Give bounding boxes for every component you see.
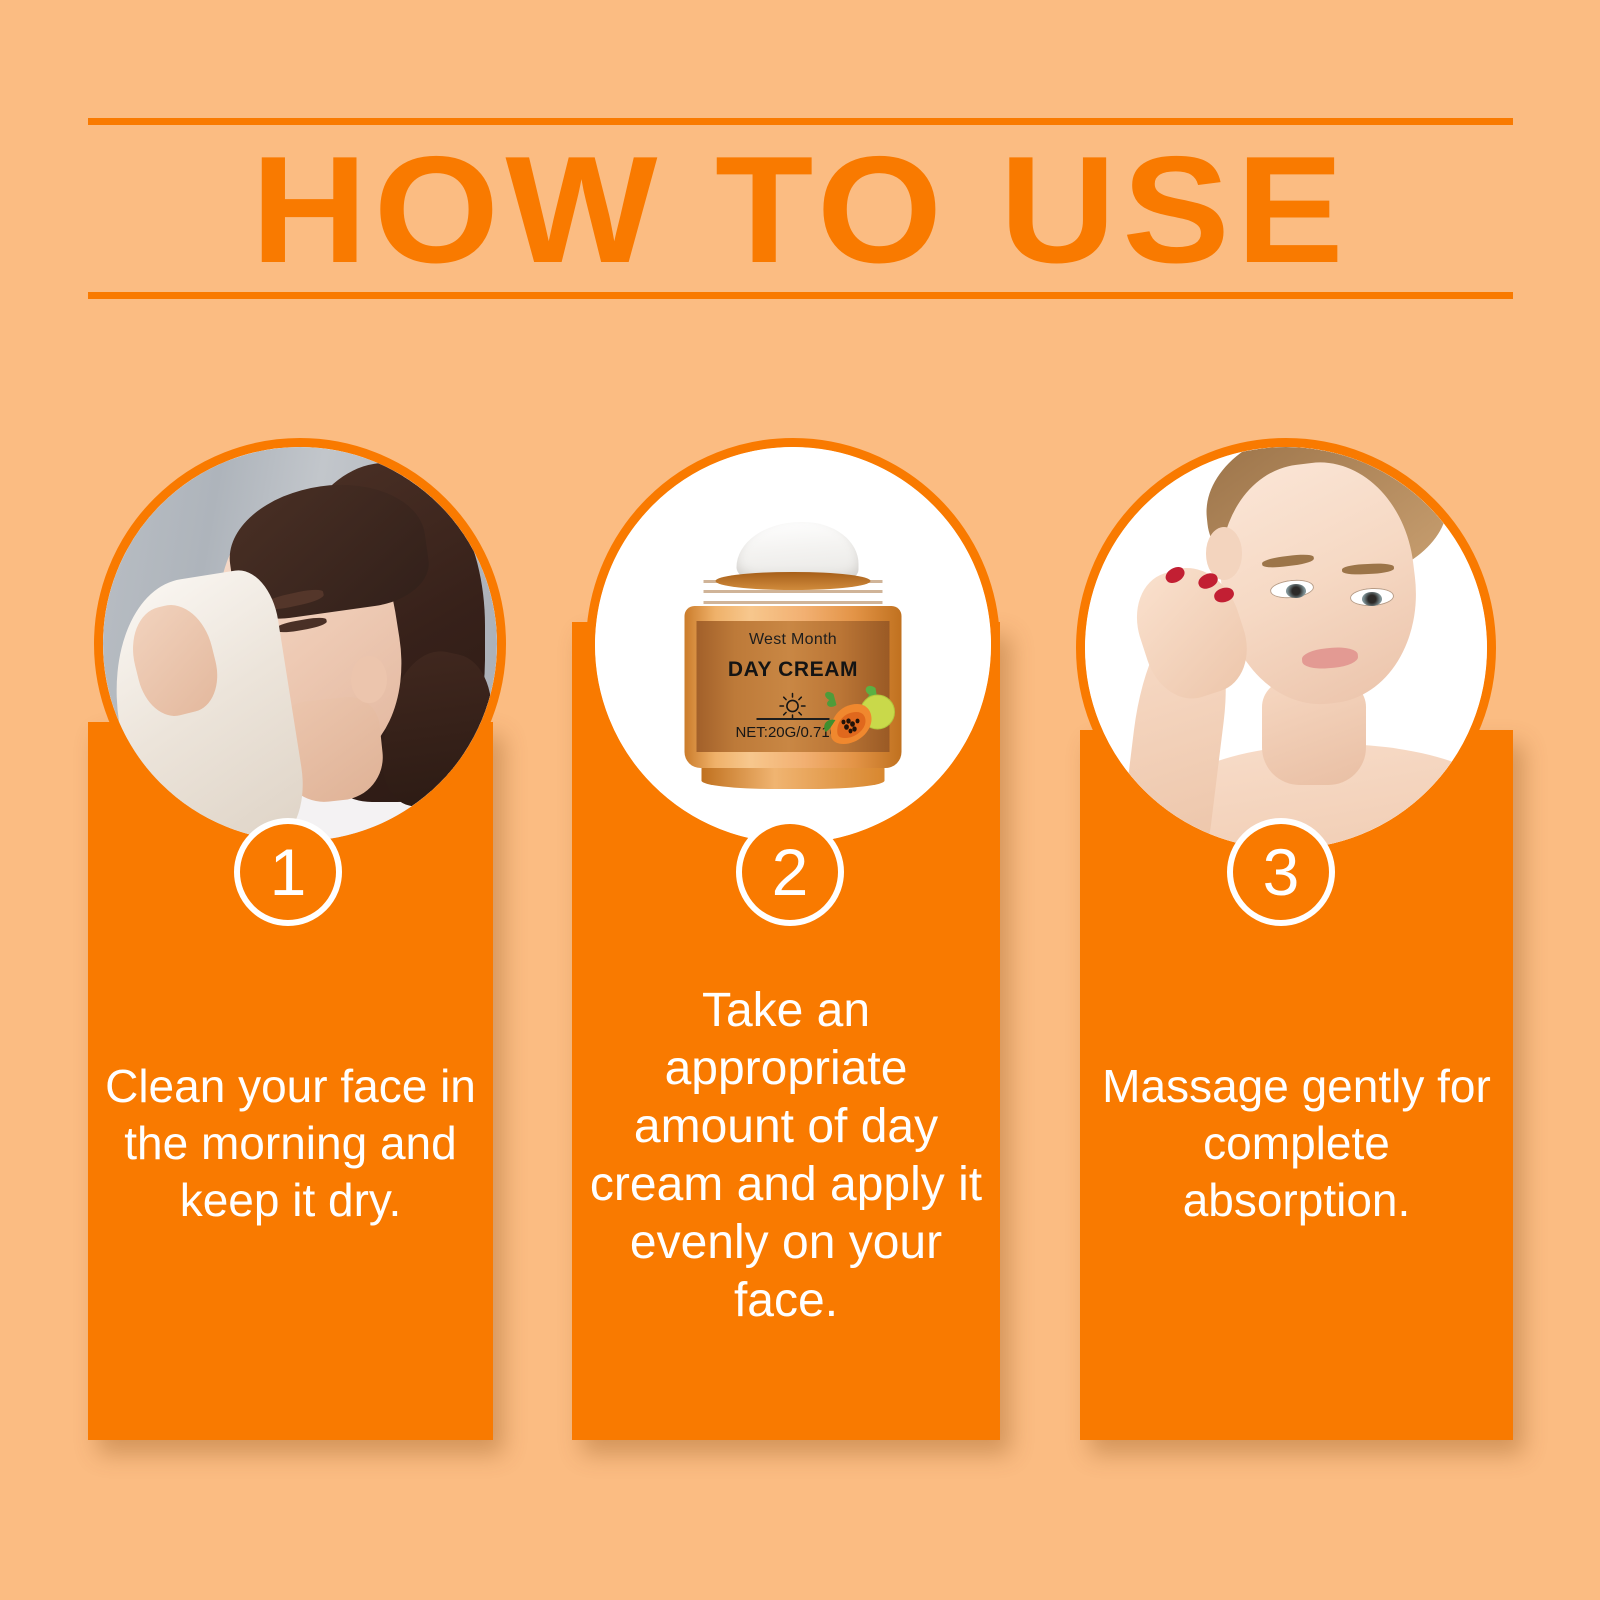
step-caption-3: Massage gently for complete absorption. <box>1080 1058 1513 1229</box>
step-number-badge-1: 1 <box>234 818 342 926</box>
step-number-badge-3: 3 <box>1227 818 1335 926</box>
step-3-image-circle <box>1076 438 1496 858</box>
jar-base <box>701 768 884 789</box>
step-card-1: 1 Clean your face in the morning and kee… <box>88 430 493 1440</box>
step-1-image-circle <box>94 438 506 850</box>
header-rule-top <box>88 118 1513 125</box>
woman-drying-face-with-towel-photo <box>103 447 497 841</box>
sun-icon <box>778 691 808 726</box>
step-2-image-circle: West Month DAY CREAM <box>586 438 1000 852</box>
product-brand: West Month <box>697 631 890 649</box>
jar-mouth <box>715 572 870 590</box>
papaya-fruit-illustration <box>819 674 897 746</box>
woman-massaging-cheek-photo <box>1085 447 1487 849</box>
jar-label: West Month DAY CREAM <box>697 621 890 752</box>
page-title: HOW TO USE <box>45 131 1556 289</box>
step-caption-1: Clean your face in the morning and keep … <box>88 1058 493 1229</box>
step-card-2: West Month DAY CREAM <box>572 430 1000 1440</box>
step-number-badge-2: 2 <box>736 818 844 926</box>
day-cream-jar-product-photo: West Month DAY CREAM <box>595 447 991 843</box>
page-header: HOW TO USE <box>0 0 1600 330</box>
step-card-3: 3 Massage gently for complete absorption… <box>1080 430 1513 1440</box>
step-caption-2: Take an appropriate amount of day cream … <box>572 982 1000 1330</box>
header-rule-bottom <box>88 292 1513 299</box>
cream-jar: West Month DAY CREAM <box>676 522 911 784</box>
